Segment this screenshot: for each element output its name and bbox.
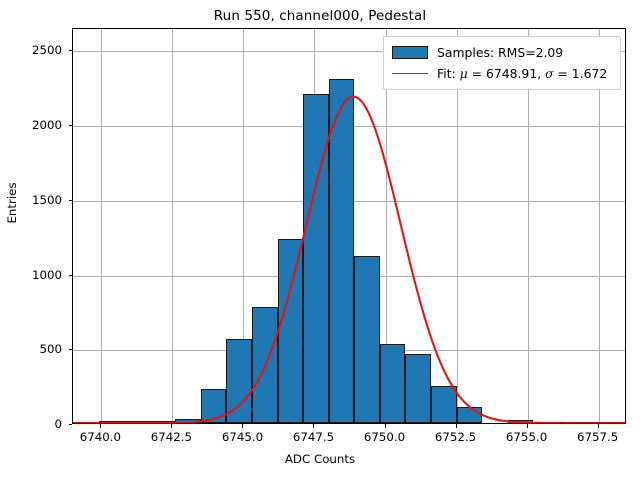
histogram-bar [354, 256, 380, 423]
legend-entry-fit: Fit: μ = 6748.91, σ = 1.672 [392, 63, 612, 84]
x-tick-label: 6755.0 [506, 430, 547, 444]
x-tick-mark [385, 424, 386, 428]
y-tick-mark [69, 125, 73, 126]
x-tick-mark [242, 424, 243, 428]
histogram-bar [508, 420, 534, 423]
histogram-bar [329, 79, 355, 423]
page-title: Run 550, channel000, Pedestal [0, 8, 640, 24]
y-tick-label: 500 [0, 342, 62, 356]
x-tick-label: 6747.5 [293, 430, 334, 444]
legend: Samples: RMS=2.09 Fit: μ = 6748.91, σ = … [383, 36, 621, 90]
legend-sigma-symbol: σ [545, 66, 553, 81]
legend-fit-prefix: Fit: [437, 66, 460, 81]
histogram-bar [201, 389, 227, 423]
x-tick-mark [527, 424, 528, 428]
y-tick-mark [69, 424, 73, 425]
histogram-bar [303, 94, 329, 423]
y-tick-label: 2500 [0, 43, 62, 57]
histogram-bar [431, 386, 457, 423]
histogram-bar [226, 339, 252, 423]
histogram-bar [278, 239, 304, 423]
x-tick-mark [171, 424, 172, 428]
x-axis-label: ADC Counts [0, 452, 640, 466]
y-tick-label: 0 [0, 417, 62, 431]
legend-line-icon [392, 67, 428, 81]
histogram-bar [150, 421, 176, 423]
legend-entry-samples: Samples: RMS=2.09 [392, 42, 612, 63]
histogram-bar [124, 421, 150, 423]
legend-mu-value: = 6748.91, [468, 66, 545, 81]
x-tick-label: 6740.0 [80, 430, 121, 444]
y-tick-mark [69, 275, 73, 276]
histogram-bar [252, 307, 278, 423]
histogram-bar [99, 421, 125, 423]
y-tick-mark [69, 50, 73, 51]
x-tick-mark [456, 424, 457, 428]
histogram-bar [457, 407, 483, 423]
legend-label-fit: Fit: μ = 6748.91, σ = 1.672 [437, 66, 607, 81]
x-tick-label: 6750.0 [364, 430, 405, 444]
x-tick-label: 6757.5 [577, 430, 618, 444]
legend-mu-symbol: μ [460, 66, 468, 81]
y-tick-mark [69, 349, 73, 350]
x-tick-mark [598, 424, 599, 428]
x-tick-label: 6742.5 [151, 430, 192, 444]
y-tick-mark [69, 200, 73, 201]
histogram-bar [405, 354, 431, 423]
histogram-bar [380, 344, 406, 423]
x-tick-label: 6752.5 [435, 430, 476, 444]
figure-canvas: Run 550, channel000, Pedestal 6740.06742… [0, 0, 640, 480]
legend-swatch-icon [392, 46, 428, 59]
x-tick-mark [100, 424, 101, 428]
x-tick-label: 6745.0 [222, 430, 263, 444]
histogram-bar [175, 419, 201, 423]
x-tick-mark [313, 424, 314, 428]
legend-sigma-value: = 1.672 [554, 66, 608, 81]
y-axis-label: Entries [5, 113, 19, 293]
legend-label-samples: Samples: RMS=2.09 [437, 45, 563, 60]
